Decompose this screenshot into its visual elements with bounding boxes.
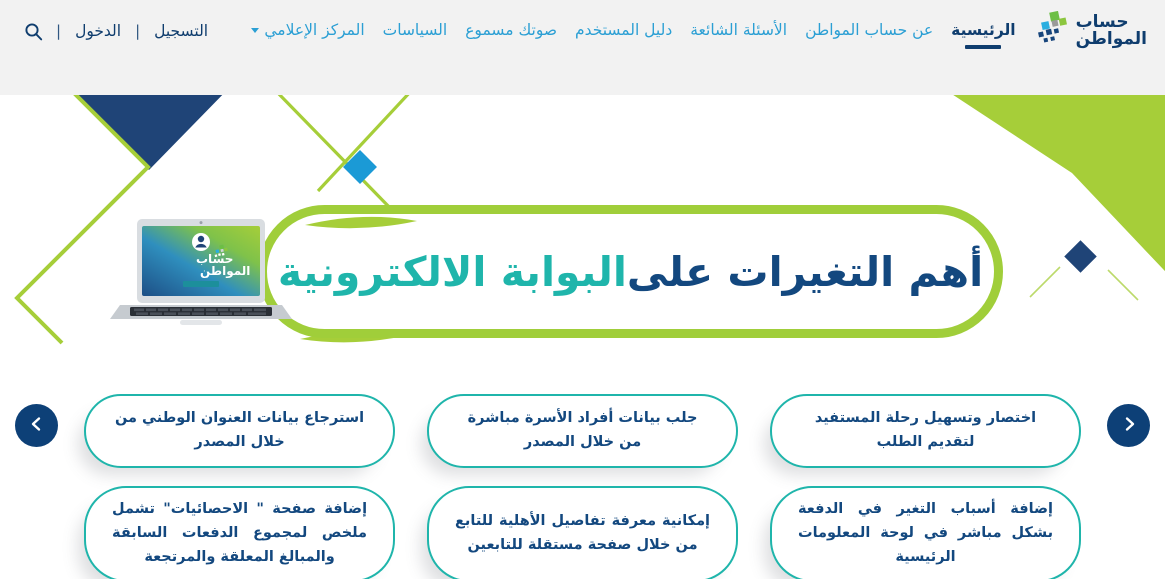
feature-card[interactable]: إمكانية معرفة تفاصيل الأهلية للتابع من خ… [427, 486, 738, 579]
register-link[interactable]: التسجيل [140, 18, 222, 44]
login-link[interactable]: الدخول [61, 18, 135, 44]
nav-item-media-center[interactable]: المركز الإعلامي [251, 7, 364, 55]
svg-text:المواطن: المواطن [200, 264, 250, 279]
top-navigation-bar: حساب المواطن الرئيسية عن حساب المواطن ال… [0, 0, 1165, 95]
carousel-next-button[interactable] [1107, 404, 1150, 447]
auth-separator-1: | [135, 22, 140, 40]
search-icon[interactable] [20, 18, 46, 44]
feature-card[interactable]: إضافة أسباب التغير في الدفعة بشكل مباشر … [770, 486, 1081, 579]
nav-item-home[interactable]: الرئيسية [951, 7, 1015, 55]
main-menu: الرئيسية عن حساب المواطن الأسئلة الشائعة… [251, 2, 1015, 60]
site-logo[interactable]: حساب المواطن [1030, 2, 1147, 60]
hero-title: أهم التغيرات على البوابة الالكترونية [258, 205, 1003, 338]
feature-card[interactable]: جلب بيانات أفراد الأسرة مباشرة من خلال ا… [427, 394, 738, 468]
changes-carousel: اختصار وتسهيل رحلة المستفيد لتقديم الطلب… [0, 385, 1165, 579]
feature-card[interactable]: إضافة صفحة " الاحصائيات" تشمل ملخص لمجمو… [84, 486, 395, 579]
nav-item-your-voice[interactable]: صوتك مسموع [465, 7, 557, 55]
nav-item-media-center-label: المركز الإعلامي [264, 21, 364, 39]
nav-item-user-guide[interactable]: دليل المستخدم [575, 7, 672, 55]
auth-separator-2: | [56, 22, 61, 40]
navy-diamond-right [1064, 240, 1097, 273]
feature-card[interactable]: استرجاع بيانات العنوان الوطني من خلال ال… [84, 394, 395, 468]
logo-text-line2: المواطن [1076, 31, 1147, 48]
chevron-down-icon [251, 28, 259, 33]
nav-item-faq[interactable]: الأسئلة الشائعة [690, 7, 787, 55]
carousel-prev-button[interactable] [15, 404, 58, 447]
feature-card[interactable]: اختصار وتسهيل رحلة المستفيد لتقديم الطلب [770, 394, 1081, 468]
page-root: حساب المواطن الرئيسية عن حساب المواطن ال… [0, 0, 1165, 579]
diamond-grid-logo-icon [1030, 11, 1070, 51]
account-actions: التسجيل | الدخول | [20, 2, 222, 60]
card-list: اختصار وتسهيل رحلة المستفيد لتقديم الطلب… [0, 385, 1165, 579]
hero-title-part2: البوابة الالكترونية [278, 248, 627, 296]
chevron-left-icon [29, 416, 45, 435]
navy-triangle-top-left [66, 95, 232, 170]
chevron-right-icon [1121, 416, 1137, 435]
hero-title-part1: أهم التغيرات على [627, 248, 983, 296]
sky-diamond-left [343, 150, 377, 184]
nav-item-about[interactable]: عن حساب المواطن [805, 7, 933, 55]
hero-banner: أهم التغيرات على البوابة الالكترونية [0, 95, 1165, 385]
nav-item-policies[interactable]: السياسات [383, 7, 448, 55]
